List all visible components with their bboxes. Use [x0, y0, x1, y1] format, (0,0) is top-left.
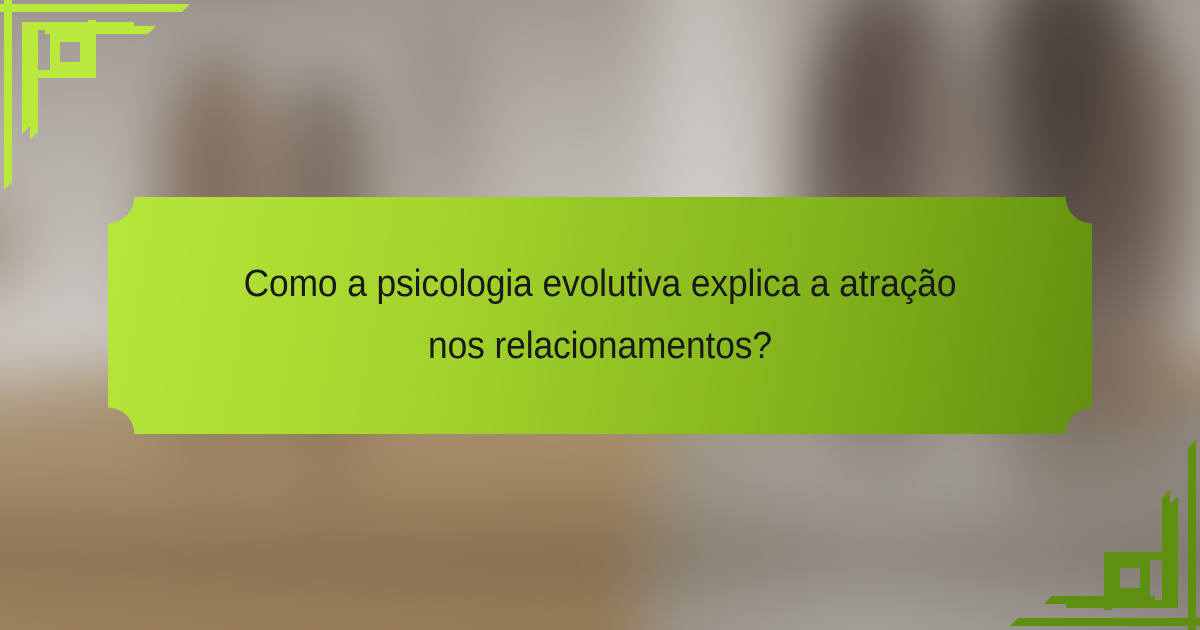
- background-figure-6: [1088, 45, 1200, 490]
- quote-banner: Como a psicologia evolutiva explica a at…: [108, 197, 1092, 434]
- corner-bracket-top-left-icon: [0, 0, 200, 200]
- quote-card: Como a psicologia evolutiva explica a at…: [0, 0, 1200, 630]
- quote-title: Como a psicologia evolutiva explica a at…: [219, 254, 982, 377]
- corner-bracket-bottom-right-icon: [1000, 430, 1200, 630]
